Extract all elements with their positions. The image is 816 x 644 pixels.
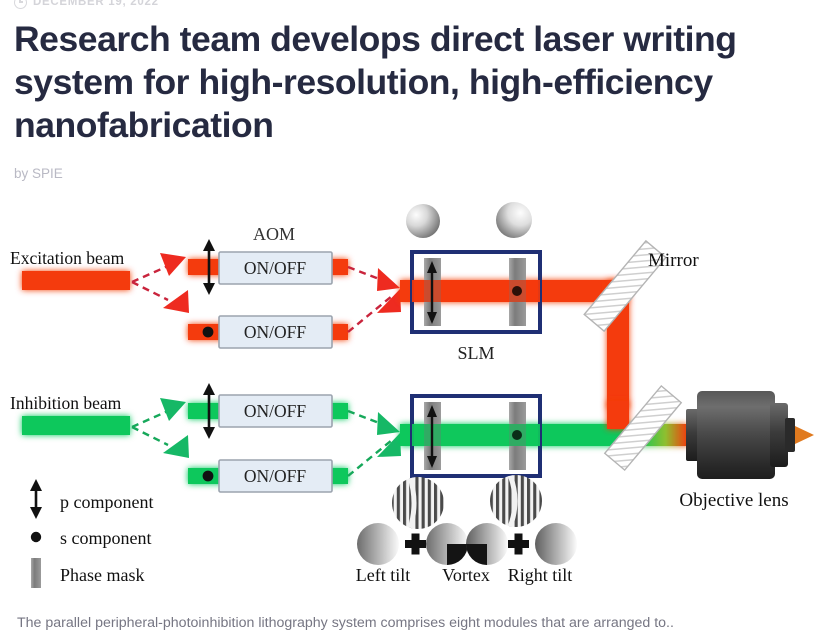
page-title: Research team develops direct laser writ… bbox=[14, 18, 814, 147]
excitation-split-lower-line bbox=[132, 282, 168, 300]
article-byline: by SPIE bbox=[14, 166, 804, 181]
beam-profile-sphere-right bbox=[496, 202, 532, 238]
right-tilt-label: Right tilt bbox=[508, 565, 573, 585]
figure-diagram: Excitation beam ON/OFF ON/OFF AOM bbox=[0, 196, 816, 592]
right-tilt-disk bbox=[535, 523, 577, 565]
left-tilt-disk bbox=[357, 523, 399, 565]
excitation-beam-to-mirror2 bbox=[607, 401, 629, 429]
inhibition-split-upper-arrow bbox=[160, 398, 186, 421]
s-component-symbol-slm-inhibition bbox=[512, 430, 522, 440]
s-component-symbol-slm-excitation bbox=[512, 286, 522, 296]
phase-mask-patterns: Left tilt Vortex Right tilt bbox=[356, 475, 577, 585]
excitation-source-beam bbox=[22, 271, 130, 290]
slm-inhibition-module[interactable] bbox=[412, 396, 540, 476]
article-date-row: DECEMBER 19, 2022 bbox=[14, 0, 804, 10]
s-component-symbol-inhibition bbox=[203, 471, 214, 482]
clock-icon bbox=[14, 0, 27, 9]
inhibition-merge-lower-line bbox=[348, 440, 392, 476]
inhibition-split-upper-line bbox=[132, 411, 168, 427]
inhibition-merge-upper-arrow bbox=[377, 412, 400, 435]
slm-label: SLM bbox=[457, 343, 494, 363]
inhibition-split-lower-line bbox=[132, 427, 168, 445]
objective-lens-label: Objective lens bbox=[679, 490, 788, 511]
optical-system-diagram: Excitation beam ON/OFF ON/OFF AOM bbox=[0, 196, 816, 592]
objective-lens bbox=[686, 391, 814, 479]
beam-profile-sphere-left bbox=[406, 204, 440, 238]
slm-excitation-module[interactable] bbox=[412, 252, 540, 332]
aom-inhibition-s-label: ON/OFF bbox=[244, 466, 307, 486]
legend-item-phase-mask: Phase mask bbox=[31, 558, 145, 588]
inhibition-beam-label: Inhibition beam bbox=[10, 393, 122, 413]
inhibition-merge-lower-arrow bbox=[377, 433, 401, 457]
excitation-merge-lower-line bbox=[348, 296, 392, 332]
aom-inhibition-p-label: ON/OFF bbox=[244, 401, 307, 421]
vortex-disk-left bbox=[426, 523, 468, 565]
legend-item-p-component: p component bbox=[30, 479, 153, 519]
phase-pattern-left-disk bbox=[392, 477, 444, 529]
left-tilt-label: Left tilt bbox=[356, 565, 410, 585]
inhibition-beam-group: Inhibition beam ON/OFF ON/OFF bbox=[10, 383, 638, 492]
excitation-merge-lower-arrow bbox=[377, 289, 401, 313]
aom-excitation-p-label: ON/OFF bbox=[244, 258, 307, 278]
phase-pattern-right-disk bbox=[490, 475, 542, 527]
excitation-split-upper-line bbox=[132, 266, 168, 282]
vortex-label: Vortex bbox=[442, 565, 490, 585]
s-component-symbol-excitation bbox=[203, 327, 214, 338]
article-date: DECEMBER 19, 2022 bbox=[33, 0, 159, 8]
excitation-beam-label: Excitation beam bbox=[10, 248, 125, 268]
inhibition-source-beam bbox=[22, 416, 130, 435]
mirror-label: Mirror bbox=[648, 250, 699, 271]
objective-lens-body bbox=[697, 391, 775, 479]
figure-caption: The parallel peripheral-photoinhibition … bbox=[17, 614, 807, 633]
objective-lens-focus-beam bbox=[795, 426, 814, 444]
plus-icon-1 bbox=[405, 534, 426, 555]
legend-label-p-component: p component bbox=[60, 492, 153, 512]
vortex-disk-right bbox=[466, 523, 508, 565]
inhibition-split-lower-arrow bbox=[163, 435, 189, 458]
figure-legend: p component s component Phase mask bbox=[30, 479, 153, 588]
objective-lens-aperture bbox=[785, 418, 795, 452]
legend-label-phase-mask: Phase mask bbox=[60, 565, 145, 585]
plus-icon-2 bbox=[508, 534, 529, 555]
aom-excitation-s-label: ON/OFF bbox=[244, 322, 307, 342]
dot-icon bbox=[31, 532, 41, 542]
legend-item-s-component: s component bbox=[31, 528, 152, 548]
bar-icon bbox=[31, 558, 41, 588]
excitation-split-lower-arrow bbox=[163, 290, 189, 313]
aom-label: AOM bbox=[253, 224, 295, 244]
article-header: DECEMBER 19, 2022 Research team develops… bbox=[14, 0, 804, 181]
excitation-merge-upper-arrow bbox=[377, 268, 400, 291]
excitation-split-upper-arrow bbox=[160, 253, 186, 276]
legend-label-s-component: s component bbox=[60, 528, 152, 548]
